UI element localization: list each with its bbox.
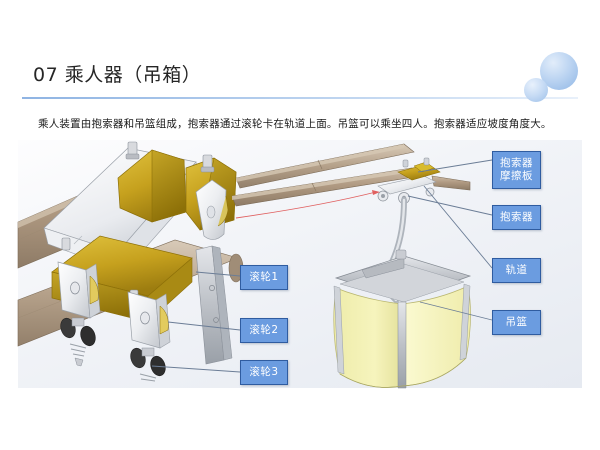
callout-track[interactable]: 轨道 xyxy=(492,258,541,283)
callout-line: 摩擦板 xyxy=(500,170,533,183)
callout-grip[interactable]: 抱索器 xyxy=(492,205,541,230)
subtitle-text: 乘人装置由抱索器和吊篮组成，抱索器通过滚轮卡在轨道上面。吊篮可以乘坐四人。抱索器… xyxy=(38,116,552,131)
callout-line: 轨道 xyxy=(506,264,528,277)
callout-line: 滚轮1 xyxy=(249,271,278,284)
callout-line: 抱索器 xyxy=(500,211,533,224)
page-title: 07 乘人器（吊箱） xyxy=(33,60,201,87)
callout-line: 吊篮 xyxy=(506,316,528,329)
callout-line: 滚轮3 xyxy=(249,366,278,379)
callout-gondola[interactable]: 吊篮 xyxy=(492,310,541,335)
decorative-circle-small xyxy=(524,78,548,102)
callout-roller-3[interactable]: 滚轮3 xyxy=(240,360,288,385)
callout-roller-1[interactable]: 滚轮1 xyxy=(240,265,288,290)
header-divider xyxy=(22,97,578,99)
callout-friction-plate[interactable]: 抱索器 摩擦板 xyxy=(492,151,541,189)
callout-line: 抱索器 xyxy=(500,157,533,170)
callout-line: 滚轮2 xyxy=(249,324,278,337)
callout-roller-2[interactable]: 滚轮2 xyxy=(240,318,288,343)
